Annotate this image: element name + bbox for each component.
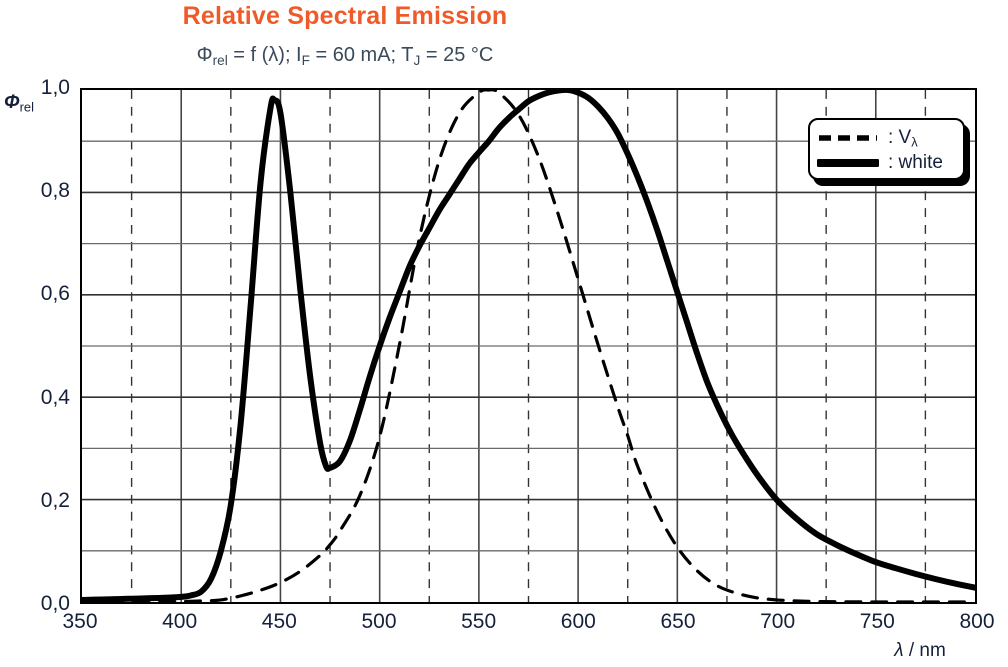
y-axis-title-sub: rel — [20, 100, 34, 115]
y-tick-label: 0,4 — [4, 386, 70, 410]
chart-subtitle: Φrel = f (λ); IF = 60 mA; TJ = 25 °C — [0, 44, 690, 68]
subtitle-phi-sub: rel — [213, 53, 228, 68]
x-tick-label: 450 — [239, 610, 319, 634]
subtitle-mid: = f (λ); I — [228, 44, 302, 66]
x-tick-label: 800 — [937, 610, 1008, 634]
y-tick-label: 0,8 — [4, 179, 70, 203]
y-tick-label: 0,2 — [4, 489, 70, 513]
chart-root: Relative Spectral Emission Φrel = f (λ);… — [0, 0, 1008, 667]
subtitle-if-sub: F — [302, 53, 310, 68]
x-axis-title: λ / nm — [894, 640, 946, 662]
x-tick-label: 650 — [638, 610, 718, 634]
x-tick-label: 350 — [40, 610, 120, 634]
legend-label-white: : white — [888, 152, 943, 174]
x-tick-label: 700 — [738, 610, 818, 634]
legend-label-v-lambda: : Vλ — [888, 127, 918, 150]
x-tick-label: 600 — [538, 610, 618, 634]
x-tick-label: 500 — [339, 610, 419, 634]
x-tick-label: 750 — [837, 610, 917, 634]
chart-legend: : Vλ : white — [808, 118, 970, 184]
subtitle-end: = 25 °C — [420, 44, 493, 66]
legend-item-v-lambda[interactable]: : Vλ — [817, 125, 959, 151]
legend-swatch-solid — [817, 157, 879, 169]
subtitle-mid2: = 60 mA; T — [310, 44, 414, 66]
page-title: Relative Spectral Emission — [0, 2, 690, 31]
legend-swatch-dashed — [817, 132, 879, 144]
legend-item-white[interactable]: : white — [817, 150, 959, 176]
y-tick-label: 1,0 — [4, 76, 70, 100]
x-axis-title-symbol: λ — [894, 640, 903, 661]
x-tick-label: 400 — [140, 610, 220, 634]
subtitle-phi: Φ — [197, 44, 213, 66]
y-tick-label: 0,6 — [4, 282, 70, 306]
x-tick-label: 550 — [439, 610, 519, 634]
x-axis-title-unit: / nm — [904, 640, 946, 661]
